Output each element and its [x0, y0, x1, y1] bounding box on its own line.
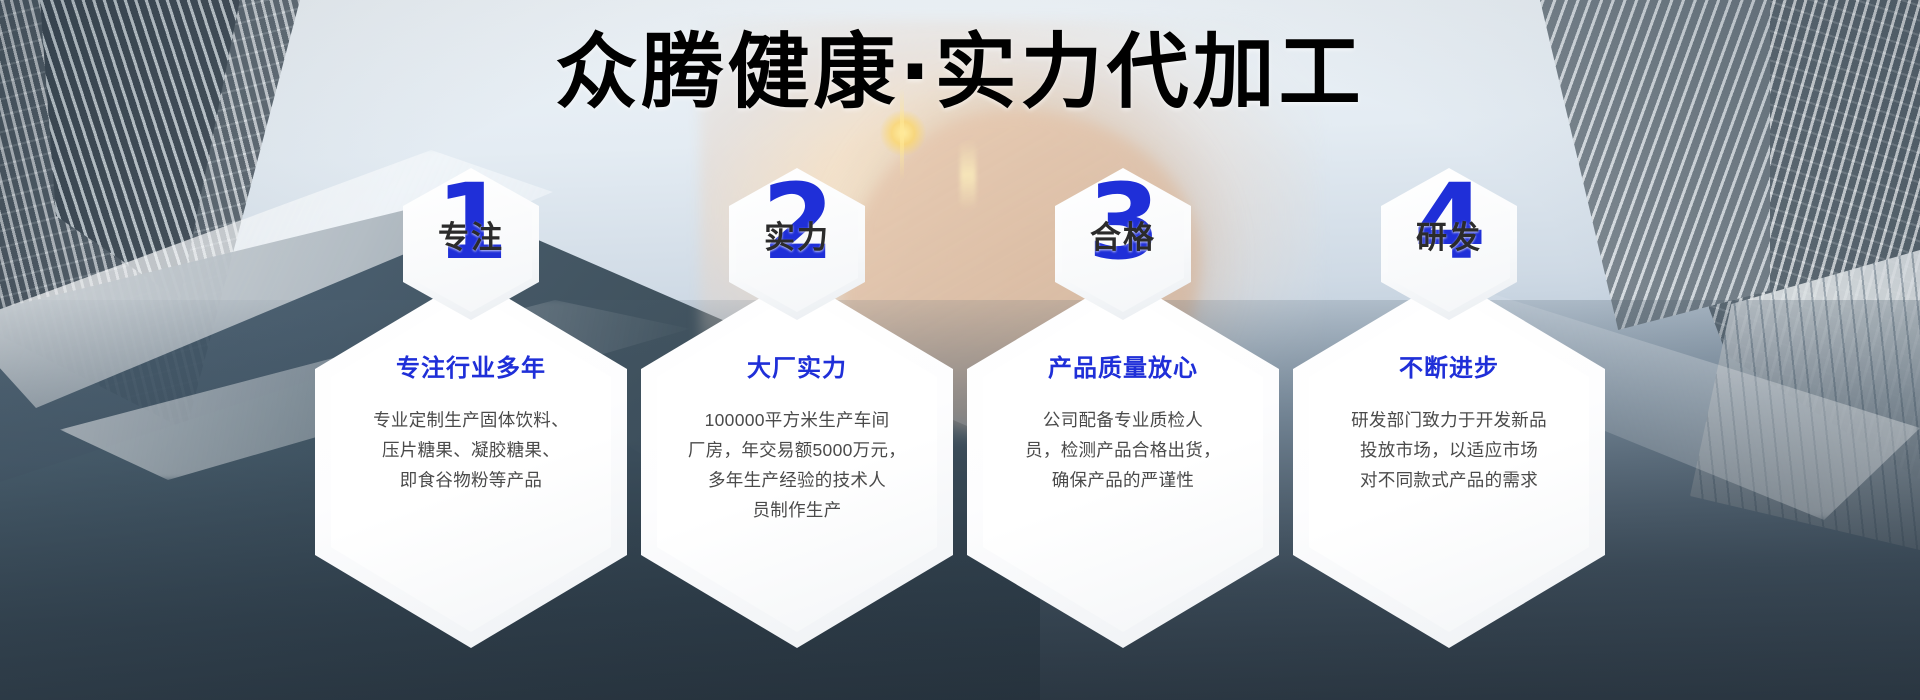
feature-card-body-line: 公司配备专业质检人	[1003, 405, 1243, 435]
feature-card-body: 专业定制生产固体饮料、 压片糖果、凝胶糖果、 即食谷物粉等产品	[315, 405, 627, 495]
feature-card-badge-label: 研发	[1381, 212, 1517, 257]
feature-card-body-line: 确保产品的严谨性	[1003, 465, 1243, 495]
feature-card-body: 100000平方米生产车间 厂房，年交易额5000万元， 多年生产经验的技术人 …	[641, 405, 953, 525]
feature-cards-row: 专注行业多年 专业定制生产固体饮料、 压片糖果、凝胶糖果、 即食谷物粉等产品 1…	[0, 168, 1920, 588]
feature-card-body-line: 研发部门致力于开发新品	[1329, 405, 1569, 435]
feature-card-body-line: 100000平方米生产车间	[677, 405, 917, 435]
feature-card-badge: 1 专注	[403, 168, 539, 320]
feature-card-text: 专注行业多年 专业定制生产固体饮料、 压片糖果、凝胶糖果、 即食谷物粉等产品	[315, 348, 627, 495]
feature-card-heading: 大厂实力	[641, 348, 953, 383]
feature-card-badge: 2 实力	[729, 168, 865, 320]
feature-card-body-line: 厂房，年交易额5000万元，	[677, 435, 917, 465]
feature-card-badge-label: 实力	[729, 212, 865, 257]
feature-card-body: 研发部门致力于开发新品 投放市场，以适应市场 对不同款式产品的需求	[1293, 405, 1605, 495]
feature-card-body-line: 多年生产经验的技术人	[677, 465, 917, 495]
feature-card-heading: 专注行业多年	[315, 348, 627, 383]
feature-card-body-line: 员，检测产品合格出货，	[1003, 435, 1243, 465]
feature-card-body-line: 员制作生产	[677, 495, 917, 525]
banner-title-area: 众腾健康·实力代加工	[0, 26, 1920, 120]
feature-card-body: 公司配备专业质检人 员，检测产品合格出货， 确保产品的严谨性	[967, 405, 1279, 495]
page-title: 众腾健康·实力代加工	[0, 26, 1920, 120]
feature-card-text: 大厂实力 100000平方米生产车间 厂房，年交易额5000万元， 多年生产经验…	[641, 348, 953, 525]
feature-card-heading: 产品质量放心	[967, 348, 1279, 383]
feature-card-body-line: 压片糖果、凝胶糖果、	[351, 435, 591, 465]
feature-card-badge-label: 合格	[1055, 212, 1191, 257]
feature-card-badge: 4 研发	[1381, 168, 1517, 320]
feature-card-badge: 3 合格	[1055, 168, 1191, 320]
feature-card-body-line: 对不同款式产品的需求	[1329, 465, 1569, 495]
promotional-banner: 众腾健康·实力代加工 专注行业多年 专业定制生产固体饮料、 压片糖果、凝胶糖果、…	[0, 0, 1920, 700]
feature-card-text: 产品质量放心 公司配备专业质检人 员，检测产品合格出货， 确保产品的严谨性	[967, 348, 1279, 495]
feature-card-body-line: 投放市场，以适应市场	[1329, 435, 1569, 465]
feature-card-text: 不断进步 研发部门致力于开发新品 投放市场，以适应市场 对不同款式产品的需求	[1293, 348, 1605, 495]
feature-card-body-line: 即食谷物粉等产品	[351, 465, 591, 495]
feature-card[interactable]: 大厂实力 100000平方米生产车间 厂房，年交易额5000万元， 多年生产经验…	[641, 168, 953, 588]
feature-card-body-line: 专业定制生产固体饮料、	[351, 405, 591, 435]
feature-card-heading: 不断进步	[1293, 348, 1605, 383]
feature-card-badge-label: 专注	[403, 212, 539, 257]
feature-card[interactable]: 不断进步 研发部门致力于开发新品 投放市场，以适应市场 对不同款式产品的需求 4…	[1293, 168, 1605, 588]
feature-card[interactable]: 专注行业多年 专业定制生产固体饮料、 压片糖果、凝胶糖果、 即食谷物粉等产品 1…	[315, 168, 627, 588]
feature-card[interactable]: 产品质量放心 公司配备专业质检人 员，检测产品合格出货， 确保产品的严谨性 3 …	[967, 168, 1279, 588]
